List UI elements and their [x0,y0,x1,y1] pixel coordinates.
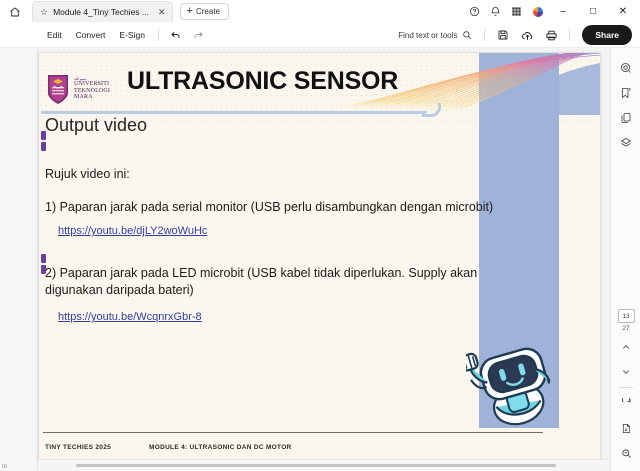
create-button[interactable]: + Create [180,3,229,20]
toolbar-divider [158,29,159,41]
chevron-down-icon[interactable] [611,360,640,383]
zoom-icon[interactable] [611,442,640,465]
rail-divider [619,387,633,388]
video-link-2[interactable]: https://youtu.be/WcqnrxGbr-8 [58,311,202,323]
redo-icon[interactable] [187,26,209,44]
home-icon[interactable] [0,0,30,23]
pdf-page[interactable]: بسم الله UNIVERSITI TEKNOLOGI MARA ULTRA… [39,53,600,463]
copy-pages-icon[interactable] [611,106,640,129]
section-heading: Output video [45,115,147,136]
minimize-button[interactable]: – [548,0,578,23]
list-item-1: 1) Paparan jarak pada serial monitor (US… [45,199,545,216]
document-tab[interactable]: ☆ Module 4_Tiny Techies ... ✕ [32,1,173,22]
rail-top-group [611,48,640,154]
footer-left: TINY TECHIES 2025 [45,444,111,451]
selection-marker-1 [41,131,46,140]
pdf-reader-window: ☆ Module 4_Tiny Techies ... ✕ + Create [0,0,640,471]
toolbar-divider-3 [569,29,570,41]
close-icon[interactable]: ✕ [158,7,166,18]
document-header: بسم الله UNIVERSITI TEKNOLOGI MARA ULTRA… [39,63,600,115]
total-pages-label: 27 [611,325,640,332]
right-tool-rail: 13 27 [610,48,640,471]
fit-page-icon[interactable] [611,417,640,440]
apps-grid-icon[interactable] [506,0,527,23]
convert-button[interactable]: Convert [69,27,113,43]
plus-icon: + [187,6,193,17]
maximize-button[interactable]: □ [578,0,608,23]
rotate-icon[interactable] [611,392,640,415]
esign-button[interactable]: E-Sign [112,27,152,43]
bookmark-icon[interactable] [611,81,640,104]
window-close-button[interactable]: ✕ [608,0,638,23]
uitm-crest-icon [45,74,71,105]
status-label: In [2,464,7,470]
main-toolbar: Edit Convert E-Sign Find text or tools [0,23,640,48]
undo-icon[interactable] [165,26,187,44]
avatar[interactable] [527,0,548,23]
title-underline [41,111,427,114]
footer-right: MODULE 4: ULTRASONIC DAN DC MOTOR [149,444,292,451]
uitm-logo: بسم الله UNIVERSITI TEKNOLOGI MARA [45,71,123,107]
toolbar-divider-2 [484,29,485,41]
footer-rule [43,432,543,433]
selection-marker-3 [41,254,46,263]
tab-strip: ☆ Module 4_Tiny Techies ... ✕ + Create [0,0,229,23]
selection-marker-4 [41,265,46,274]
scrollbar-thumb[interactable] [76,464,556,467]
page-title: ULTRASONIC SENSOR [127,67,398,96]
bell-icon[interactable] [485,0,506,23]
print-icon[interactable] [539,25,563,45]
page-navigation: 13 27 [611,309,640,465]
star-icon[interactable]: ☆ [40,7,48,18]
left-gutter [0,48,38,471]
search-icon[interactable] [462,30,472,40]
find-placeholder: Find text or tools [398,31,457,40]
robot-mascot [466,335,562,427]
intro-text: Rujuk video ini: [45,167,130,181]
list-item-2: 2) Paparan jarak pada LED microbit (USB … [45,265,523,300]
upload-cloud-icon[interactable] [515,25,539,45]
selection-marker-2 [41,142,46,151]
share-button[interactable]: Share [582,25,632,45]
window-right-controls: – □ ✕ [464,0,640,23]
chevron-up-icon[interactable] [611,335,640,358]
save-icon[interactable] [491,25,515,45]
title-bar: ☆ Module 4_Tiny Techies ... ✕ + Create [0,0,640,23]
toolbar-right-group: Find text or tools [392,25,640,45]
current-page-field[interactable]: 13 [618,309,635,323]
edit-button[interactable]: Edit [40,27,69,43]
search-comment-icon[interactable] [611,56,640,79]
help-icon[interactable] [464,0,485,23]
create-label: Create [196,7,220,16]
search-input[interactable]: Find text or tools [392,27,478,43]
horizontal-scrollbar[interactable] [38,459,610,471]
logo-line-3: MARA [74,94,110,100]
tab-title: Module 4_Tiny Techies ... [53,7,149,17]
video-link-1[interactable]: https://youtu.be/djLY2woWuHc [58,225,207,237]
layers-icon[interactable] [611,131,640,154]
document-workspace: بسم الله UNIVERSITI TEKNOLOGI MARA ULTRA… [0,48,640,471]
